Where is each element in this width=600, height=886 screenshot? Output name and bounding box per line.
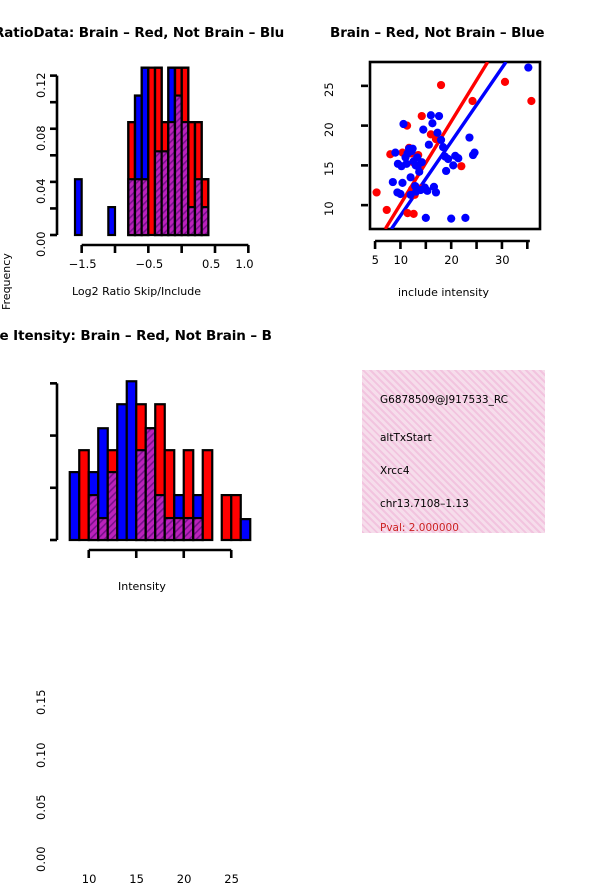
info-line-2: altTxStart — [380, 432, 432, 444]
intensity-y-axis-label: Frequency — [0, 10, 13, 310]
panel-scatter: Brain – Red, Not Brain – Blue skip inten… — [300, 0, 600, 310]
intensity-xtick-15: 15 — [129, 872, 144, 886]
scatter-x-axis-label: include intensity — [398, 286, 489, 299]
intensity-histogram-plot — [30, 365, 290, 590]
scatter-xtick-20: 20 — [444, 253, 459, 267]
scatter-xtick-10: 10 — [393, 253, 408, 267]
ratio-title-clip: RatioData: Brain – Red, Not Brain – Blu — [0, 25, 300, 47]
panel-intensity-histogram: ne Itensity: Brain – Red, Not Brain – B … — [0, 310, 300, 600]
scatter-xtick-5: 5 — [372, 253, 379, 267]
info-line-4: chr13.7108–1.13 — [380, 498, 469, 510]
info-line-3: Xrcc4 — [380, 465, 410, 477]
intensity-xtick-10: 10 — [82, 872, 97, 886]
ratio-xtick-1.0: 1.0 — [235, 257, 253, 271]
ratio-histogram-title: RatioData: Brain – Red, Not Brain – Blu — [0, 25, 284, 41]
ratio-histogram-plot — [30, 55, 290, 285]
ratio-ytick-0.00: 0.00 — [34, 231, 48, 257]
ratio-xtick-−1.5: −1.5 — [69, 257, 97, 271]
scatter-xtick-30: 30 — [495, 253, 510, 267]
ratio-x-axis-label: Log2 Ratio Skip/Include — [72, 285, 201, 298]
scatter-ytick-10: 10 — [322, 202, 336, 217]
scatter-title-clip: Brain – Red, Not Brain – Blue — [300, 25, 600, 47]
intensity-xtick-20: 20 — [177, 872, 192, 886]
intensity-xtick-25: 25 — [224, 872, 239, 886]
intensity-ytick-0.10: 0.10 — [34, 742, 48, 768]
ratio-xtick-0.5: 0.5 — [202, 257, 220, 271]
scatter-plot — [325, 52, 600, 292]
panel-info: G6878509@J917533_RCaltTxStartXrcc4chr13.… — [300, 310, 600, 600]
intensity-title-clip: ne Itensity: Brain – Red, Not Brain – B — [0, 328, 300, 350]
intensity-x-axis-label: Intensity — [118, 580, 166, 593]
intensity-ytick-0.00: 0.00 — [34, 846, 48, 872]
scatter-ytick-25: 25 — [322, 82, 336, 97]
scatter-ytick-15: 15 — [322, 162, 336, 177]
ratio-xtick-−0.5: −0.5 — [135, 257, 163, 271]
info-box: G6878509@J917533_RCaltTxStartXrcc4chr13.… — [362, 370, 545, 533]
info-line-1: G6878509@J917533_RC — [380, 394, 508, 406]
ratio-ytick-0.12: 0.12 — [34, 72, 48, 98]
scatter-title: Brain – Red, Not Brain – Blue — [330, 25, 544, 41]
panel-ratio-histogram: RatioData: Brain – Red, Not Brain – Blu … — [0, 0, 300, 310]
intensity-ytick-0.15: 0.15 — [34, 690, 48, 716]
ratio-ytick-0.04: 0.04 — [34, 178, 48, 204]
scatter-ytick-20: 20 — [322, 122, 336, 137]
ratio-ytick-0.08: 0.08 — [34, 125, 48, 151]
info-pval: Pval: 2.000000 — [380, 522, 459, 533]
intensity-ytick-0.05: 0.05 — [34, 794, 48, 820]
intensity-histogram-title: ne Itensity: Brain – Red, Not Brain – B — [0, 328, 272, 344]
